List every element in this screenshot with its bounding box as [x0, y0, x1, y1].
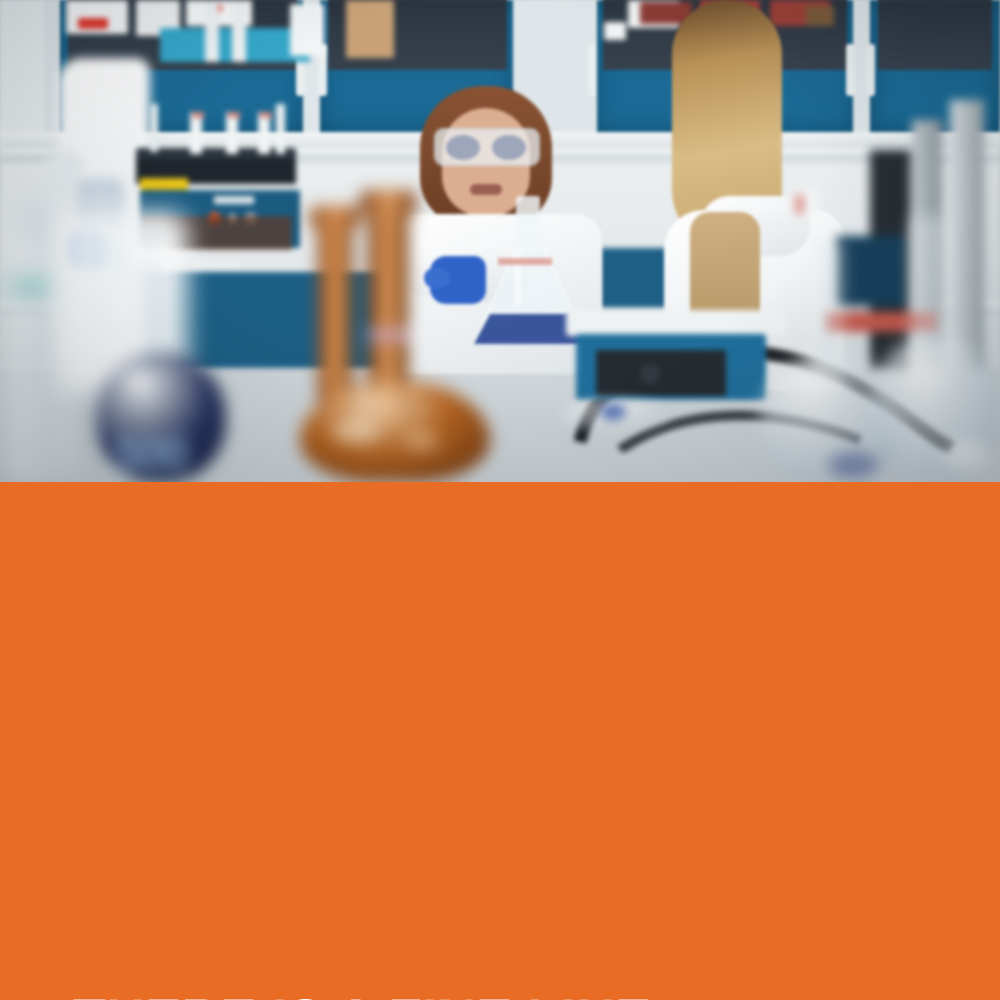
lab-photo: 500: [0, 0, 1000, 482]
poster-root: 500 THERE IS A FINE LINE: [0, 0, 1000, 1000]
photo-vignette: [0, 0, 1000, 482]
page-title: THERE IS A FINE LINE BETWEEN PASSION AND…: [73, 993, 910, 1000]
orange-text-panel: THERE IS A FINE LINE BETWEEN PASSION AND…: [0, 482, 1000, 1000]
